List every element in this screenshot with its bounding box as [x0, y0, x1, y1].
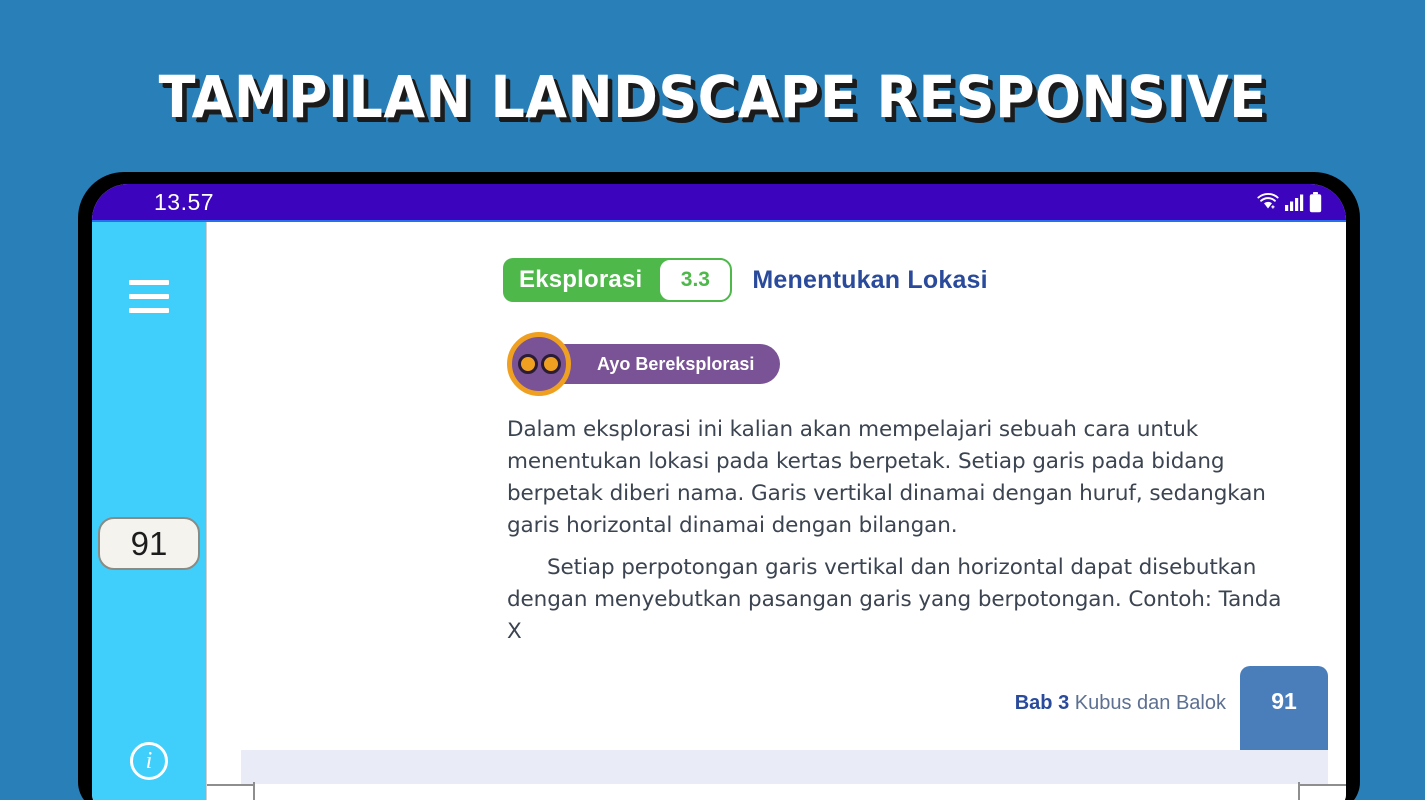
binoculars-icon	[507, 332, 571, 396]
battery-icon	[1309, 192, 1322, 213]
screen-body: 91 i Eksplorasi 3.3 Menentukan Lokasi	[92, 222, 1346, 800]
menu-bar-1	[129, 280, 169, 285]
document-viewer[interactable]: Eksplorasi 3.3 Menentukan Lokasi	[206, 222, 1346, 800]
screenshot-stage: TAMPILAN LANDSCAPE RESPONSIVE 13.57	[0, 0, 1425, 800]
signal-icon	[1284, 192, 1304, 212]
hamburger-menu-icon[interactable]	[129, 280, 169, 313]
crop-mark-left-vertical	[253, 782, 255, 800]
document-page: Eksplorasi 3.3 Menentukan Lokasi	[207, 222, 1346, 742]
footer-chapter-title: Kubus dan Balok	[1075, 692, 1226, 714]
phone-screen: 13.57	[92, 184, 1346, 800]
footer-bab-label: Bab 3	[1015, 692, 1069, 714]
eksplorasi-number: 3.3	[658, 258, 732, 302]
eksplorasi-badge: Eksplorasi 3.3	[503, 258, 730, 302]
page-title: TAMPILAN LANDSCAPE RESPONSIVE	[50, 63, 1375, 131]
eksplorasi-header: Eksplorasi 3.3 Menentukan Lokasi	[503, 258, 988, 302]
phone-device-frame: 13.57	[78, 172, 1360, 800]
ayo-bereksplorasi-badge: Ayo Bereksplorasi	[507, 332, 780, 396]
eksplorasi-label: Eksplorasi	[519, 266, 658, 294]
crop-mark-left-horizontal	[207, 784, 255, 786]
document-paragraph-1: Dalam eksplorasi ini kalian akan mempela…	[507, 414, 1307, 542]
crop-mark-right-horizontal	[1298, 784, 1346, 786]
app-sidebar: 91 i	[92, 222, 206, 800]
info-glyph: i	[146, 749, 153, 773]
wifi-icon	[1257, 192, 1279, 212]
binocular-lenses	[518, 354, 561, 374]
status-bar: 13.57	[92, 184, 1346, 222]
binocular-lens-left	[518, 354, 538, 374]
info-icon[interactable]: i	[130, 742, 168, 780]
menu-bar-3	[129, 308, 169, 313]
sidebar-page-indicator[interactable]: 91	[98, 517, 200, 570]
binocular-lens-right	[541, 354, 561, 374]
crop-mark-right-vertical	[1298, 782, 1300, 800]
status-bar-icons	[1257, 192, 1322, 213]
document-footer: Bab 3 Kubus dan Balok	[1015, 692, 1226, 715]
menu-bar-2	[129, 294, 169, 299]
status-bar-clock: 13.57	[154, 189, 214, 216]
next-page-strip	[241, 750, 1328, 784]
eksplorasi-title: Menentukan Lokasi	[752, 266, 987, 295]
document-paragraph-2: Setiap perpotongan garis vertikal dan ho…	[507, 552, 1297, 648]
